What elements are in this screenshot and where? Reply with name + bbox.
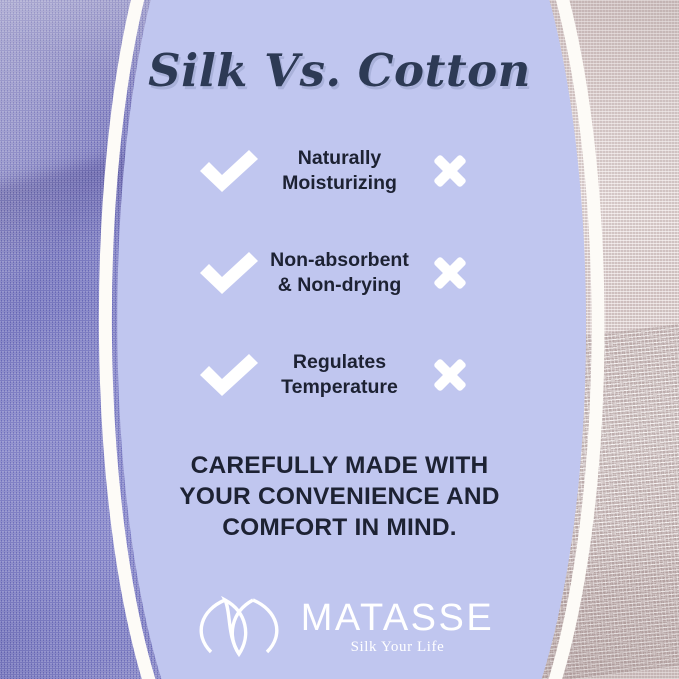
feature-label: Regulates Temperature bbox=[260, 350, 419, 400]
two-overlapping-cocoons-icon bbox=[185, 596, 293, 658]
check-icon bbox=[198, 149, 260, 193]
product-infographic: Silk Vs. Cotton Naturally Moisturizing bbox=[0, 0, 679, 679]
check-icon bbox=[198, 251, 260, 295]
comparison-list: Naturally Moisturizing bbox=[0, 120, 679, 426]
tagline-line-1: CAREFULLY MADE WITH bbox=[191, 452, 489, 479]
comparison-row: Non-absorbent & Non-drying bbox=[0, 222, 679, 324]
comparison-row: Naturally Moisturizing bbox=[0, 120, 679, 222]
brand-slogan: Silk Your Life bbox=[351, 639, 445, 656]
feature-line-2: & Non-drying bbox=[278, 274, 401, 296]
feature-line-1: Naturally bbox=[298, 147, 381, 169]
cross-icon bbox=[419, 151, 481, 191]
cross-icon bbox=[419, 355, 481, 395]
page-title: Silk Vs. Cotton bbox=[0, 44, 679, 97]
tagline-line-3: COMFORT IN MIND. bbox=[222, 514, 457, 541]
feature-label: Naturally Moisturizing bbox=[260, 146, 419, 196]
comparison-row: Regulates Temperature bbox=[0, 324, 679, 426]
brand-wordmark: MATASSE bbox=[301, 598, 494, 638]
feature-label: Non-absorbent & Non-drying bbox=[260, 248, 419, 298]
brand-logo: MATASSE Silk Your Life bbox=[0, 596, 679, 658]
cross-icon bbox=[419, 253, 481, 293]
check-icon bbox=[198, 353, 260, 397]
feature-line-2: Moisturizing bbox=[282, 172, 397, 194]
logo-text-block: MATASSE Silk Your Life bbox=[301, 598, 494, 656]
feature-line-1: Non-absorbent bbox=[270, 249, 409, 271]
poster-content: Silk Vs. Cotton Naturally Moisturizing bbox=[0, 0, 679, 679]
feature-line-1: Regulates bbox=[293, 351, 386, 373]
feature-line-2: Temperature bbox=[281, 376, 398, 398]
tagline-line-2: YOUR CONVENIENCE AND bbox=[179, 483, 499, 510]
tagline: CAREFULLY MADE WITH YOUR CONVENIENCE AND… bbox=[0, 450, 679, 543]
